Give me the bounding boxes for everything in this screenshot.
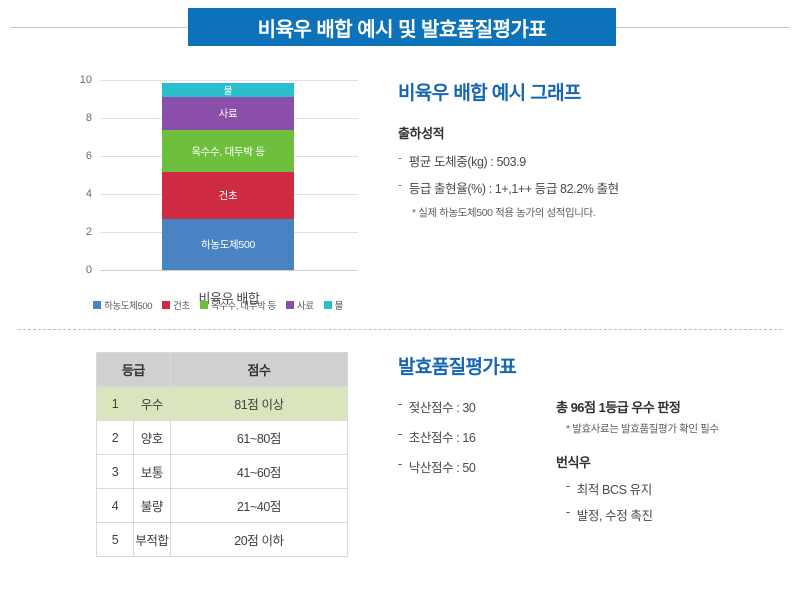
breeding-cow-heading: 번식우 <box>556 452 786 471</box>
title-banner: 비육우 배합 예시 및 발효품질평가표 <box>188 8 616 46</box>
chart-legend: 하농도체500 건초 옥수수, 대두박 등 사료 물 <box>58 298 378 312</box>
banner-rule-left <box>10 27 188 28</box>
legend-label: 하농도체500 <box>104 298 152 312</box>
bullet-dash-icon: - <box>398 178 402 197</box>
breeding-item-estrus: - 발정, 수정 촉진 <box>566 505 786 524</box>
table-header-row: 등급 점수 <box>97 353 348 387</box>
bar-segment-corn-soybean: 옥수수, 대두박 등 <box>162 130 294 172</box>
score-acetic-acid: - 초산점수 : 16 <box>398 427 530 446</box>
cell-grade-num: 3 <box>97 455 134 489</box>
y-tick-0: 0 <box>86 264 92 276</box>
cell-grade-num: 5 <box>97 523 134 557</box>
legend-label: 건초 <box>173 298 190 312</box>
breeding-text: 발정, 수정 촉진 <box>577 505 653 524</box>
table-row: 5 부적합 20점 이하 <box>97 523 348 557</box>
shipping-bullet-carcass-weight: - 평균 도체중(kg) : 503.9 <box>398 151 788 170</box>
bullet-dash-icon: - <box>566 505 570 524</box>
y-tick-6: 6 <box>86 150 92 162</box>
y-tick-10: 10 <box>80 74 92 86</box>
cell-grade-num: 4 <box>97 489 134 523</box>
legend-label: 물 <box>335 298 343 312</box>
legend-label: 옥수수, 대두박 등 <box>211 298 276 312</box>
cell-grade-name: 우수 <box>133 387 170 421</box>
bullet-dash-icon: - <box>398 427 402 446</box>
table-row: 1 우수 81점 이상 <box>97 387 348 421</box>
graph-description-section: 비육우 배합 예시 그래프 출하성적 - 평균 도체중(kg) : 503.9 … <box>398 78 788 220</box>
verdict-footnote: * 발효사료는 발효품질평가 확인 필수 <box>566 421 786 436</box>
legend-swatch-icon <box>286 301 294 309</box>
section-divider <box>18 329 782 330</box>
y-tick-4: 4 <box>86 188 92 200</box>
bullet-dash-icon: - <box>398 151 402 170</box>
chart-plot-area: 10 8 6 4 2 0 물 사료 옥수수, 대두박 등 건초 <box>100 80 358 270</box>
total-score-verdict: 총 96점 1등급 우수 판정 <box>556 397 786 416</box>
y-tick-8: 8 <box>86 112 92 124</box>
evaluation-columns: - 젖산점수 : 30 - 초산점수 : 16 - 낙산점수 : 50 총 96… <box>398 397 790 531</box>
legend-swatch-icon <box>200 301 208 309</box>
legend-swatch-icon <box>162 301 170 309</box>
shipping-footnote: * 실제 하농도체500 적용 농가의 성적입니다. <box>412 205 788 220</box>
page-title: 비육우 배합 예시 및 발효품질평가표 <box>258 13 547 42</box>
gridline-10: 10 <box>100 80 358 81</box>
table-header-grade: 등급 <box>97 353 171 387</box>
breeding-text: 최적 BCS 유지 <box>577 479 652 498</box>
cell-grade-score: 41~60점 <box>170 455 347 489</box>
bullet-text: 등급 출현율(%) : 1+,1++ 등급 82.2% 출현 <box>409 178 619 197</box>
bullet-dash-icon: - <box>566 479 570 498</box>
evaluation-section: 발효품질평가표 - 젖산점수 : 30 - 초산점수 : 16 - 낙산점수 :… <box>398 352 790 531</box>
legend-item-feed: 사료 <box>286 298 314 312</box>
bar-segment-water: 물 <box>162 83 294 97</box>
verdict-and-breeding: 총 96점 1등급 우수 판정 * 발효사료는 발효품질평가 확인 필수 번식우… <box>556 397 786 531</box>
cell-grade-name: 양호 <box>133 421 170 455</box>
cell-grade-name: 불량 <box>133 489 170 523</box>
bullet-text: 평균 도체중(kg) : 503.9 <box>409 151 526 170</box>
bar-segment-hanong500: 하농도체500 <box>162 219 294 270</box>
infographic-page: 비육우 배합 예시 및 발효품질평가표 10 8 6 4 2 0 <box>0 0 800 600</box>
mix-stacked-bar-chart: 10 8 6 4 2 0 물 사료 옥수수, 대두박 등 건초 <box>58 70 378 320</box>
stacked-bar-column: 물 사료 옥수수, 대두박 등 건초 하농도체500 <box>162 83 294 270</box>
legend-item-water: 물 <box>324 298 343 312</box>
cell-grade-name: 부적합 <box>133 523 170 557</box>
legend-item-corn-soybean: 옥수수, 대두박 등 <box>200 298 276 312</box>
shipping-result-heading: 출하성적 <box>398 123 788 142</box>
cell-grade-score: 20점 이하 <box>170 523 347 557</box>
evaluation-heading: 발효품질평가표 <box>398 352 790 379</box>
score-lactic-acid: - 젖산점수 : 30 <box>398 397 530 416</box>
score-text: 젖산점수 : 30 <box>409 397 476 416</box>
bar-segment-hay: 건초 <box>162 172 294 219</box>
cell-grade-score: 21~40점 <box>170 489 347 523</box>
cell-grade-score: 61~80점 <box>170 421 347 455</box>
fermentation-score-list: - 젖산점수 : 30 - 초산점수 : 16 - 낙산점수 : 50 <box>398 397 530 531</box>
cell-grade-num: 1 <box>97 387 134 421</box>
grade-score-table: 등급 점수 1 우수 81점 이상 2 양호 61~80점 3 보통 <box>96 352 348 557</box>
score-text: 낙산점수 : 50 <box>409 457 476 476</box>
legend-item-hanong500: 하농도체500 <box>93 298 152 312</box>
cell-grade-num: 2 <box>97 421 134 455</box>
legend-swatch-icon <box>93 301 101 309</box>
table-row: 2 양호 61~80점 <box>97 421 348 455</box>
y-tick-2: 2 <box>86 226 92 238</box>
score-butyric-acid: - 낙산점수 : 50 <box>398 457 530 476</box>
x-axis-line: 0 <box>100 270 358 271</box>
cell-grade-name: 보통 <box>133 455 170 489</box>
score-text: 초산점수 : 16 <box>409 427 476 446</box>
legend-label: 사료 <box>297 298 314 312</box>
grade-table-container: 등급 점수 1 우수 81점 이상 2 양호 61~80점 3 보통 <box>96 352 348 557</box>
table-row: 3 보통 41~60점 <box>97 455 348 489</box>
bullet-dash-icon: - <box>398 397 402 416</box>
legend-swatch-icon <box>324 301 332 309</box>
table-header-score: 점수 <box>170 353 347 387</box>
graph-section-heading: 비육우 배합 예시 그래프 <box>398 78 788 105</box>
title-banner-area: 비육우 배합 예시 및 발효품질평가표 <box>0 8 800 48</box>
legend-item-hay: 건초 <box>162 298 190 312</box>
cell-grade-score: 81점 이상 <box>170 387 347 421</box>
table-row: 4 불량 21~40점 <box>97 489 348 523</box>
bar-segment-feed: 사료 <box>162 97 294 130</box>
shipping-bullet-grade-rate: - 등급 출현율(%) : 1+,1++ 등급 82.2% 출현 <box>398 178 788 197</box>
breeding-item-bcs: - 최적 BCS 유지 <box>566 479 786 498</box>
banner-rule-right <box>616 27 790 28</box>
bullet-dash-icon: - <box>398 457 402 476</box>
